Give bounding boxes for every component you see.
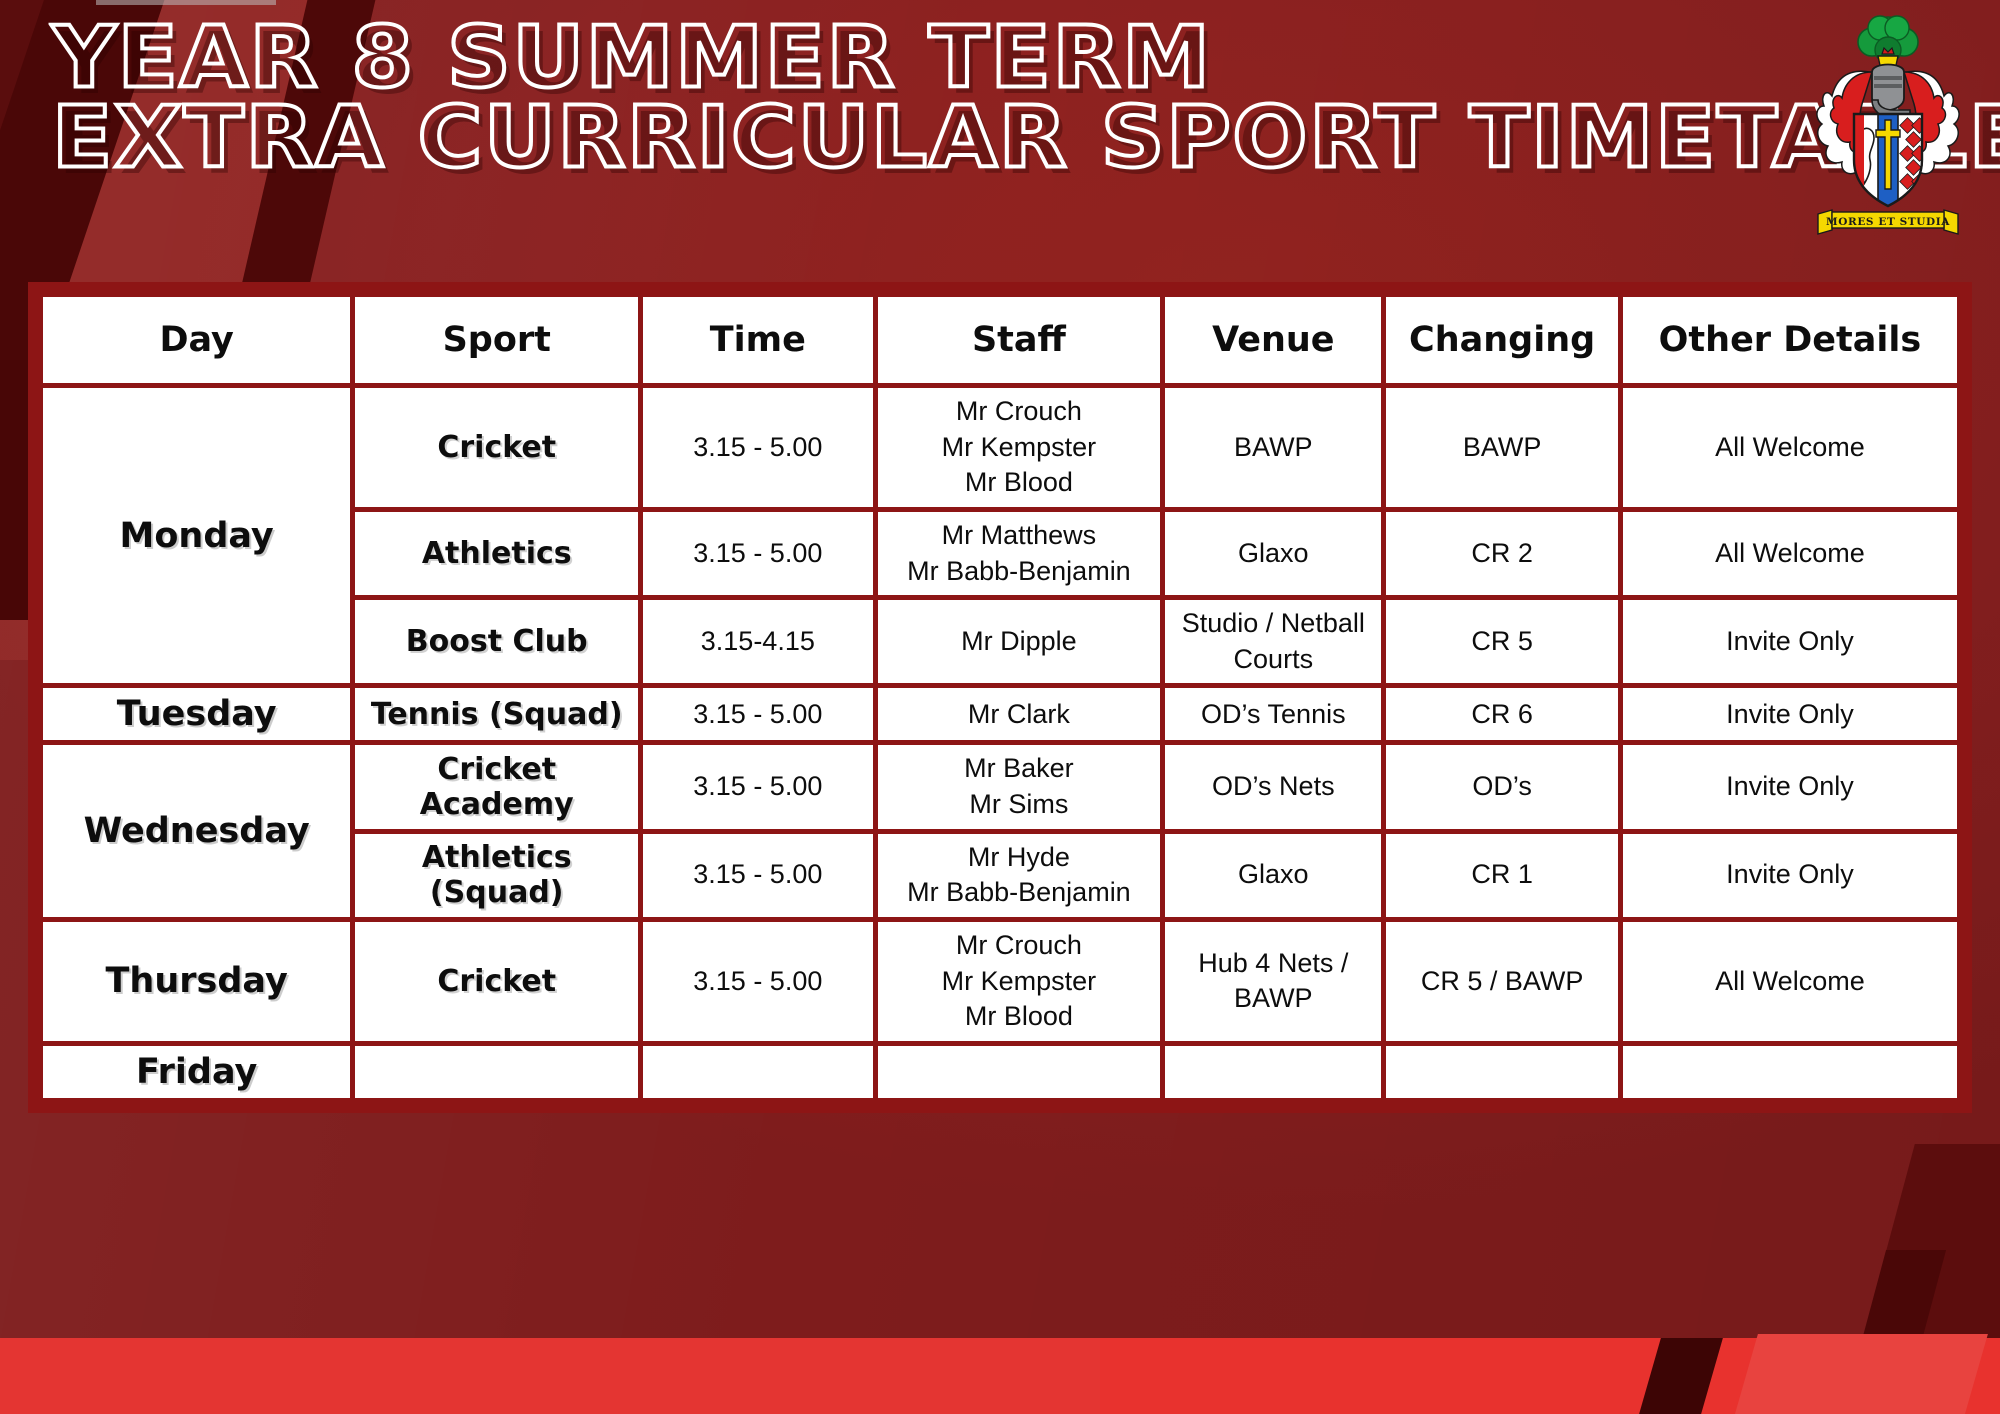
column-header-changing: Changing (1386, 297, 1618, 383)
cell-other: Invite Only (1623, 745, 1957, 828)
cell-staff: Mr Clark (878, 688, 1161, 740)
table-row: TuesdayTennis (Squad)3.15 - 5.00Mr Clark… (43, 688, 1957, 740)
crest-motto-ribbon: MORES ET STUDIA (1818, 210, 1958, 234)
cell-staff: Mr CrouchMr KempsterMr Blood (878, 388, 1161, 507)
cell-changing: CR 2 (1386, 512, 1618, 595)
cell-time (643, 1046, 872, 1098)
cell-other (1623, 1046, 1957, 1098)
column-header-day: Day (43, 297, 350, 383)
cell-day-thursday: Thursday (43, 922, 350, 1041)
cell-venue: Studio / Netball Courts (1165, 600, 1381, 683)
bottom-band-swoosh-2 (1732, 1334, 1988, 1414)
cell-staff: Mr Dipple (878, 600, 1161, 683)
cell-sport: Cricket Academy (355, 745, 638, 828)
cell-staff: Mr CrouchMr KempsterMr Blood (878, 922, 1161, 1041)
cell-staff: Mr MatthewsMr Babb-Benjamin (878, 512, 1161, 595)
cell-sport (355, 1046, 638, 1098)
timetable: Day Sport Time Staff Venue Changing Othe… (38, 292, 1962, 1103)
cell-time: 3.15 - 5.00 (643, 745, 872, 828)
cell-other: All Welcome (1623, 512, 1957, 595)
cell-sport: Athletics (Squad) (355, 834, 638, 917)
school-crest-icon: MORES ET STUDIA (1798, 14, 1978, 244)
cell-changing: CR 5 (1386, 600, 1618, 683)
cell-staff: Mr HydeMr Babb-Benjamin (878, 834, 1161, 917)
cell-day-friday: Friday (43, 1046, 350, 1098)
crest-motto-text: MORES ET STUDIA (1826, 216, 1950, 228)
cell-changing: BAWP (1386, 388, 1618, 507)
cell-time: 3.15 - 5.00 (643, 834, 872, 917)
cell-sport: Tennis (Squad) (355, 688, 638, 740)
cell-other: All Welcome (1623, 922, 1957, 1041)
timetable-container: Day Sport Time Staff Venue Changing Othe… (28, 282, 1972, 1113)
cell-other: All Welcome (1623, 388, 1957, 507)
timetable-body: MondayCricket3.15 - 5.00Mr CrouchMr Kemp… (43, 388, 1957, 1098)
cell-time: 3.15 - 5.00 (643, 922, 872, 1041)
cell-day-tuesday: Tuesday (43, 688, 350, 740)
cell-day-wednesday: Wednesday (43, 745, 350, 917)
title-line-2: EXTRA CURRICULAR SPORT TIMETABLE (52, 98, 2000, 176)
title-line-1: YEAR 8 SUMMER TERM (52, 18, 2000, 96)
cell-staff: Mr BakerMr Sims (878, 745, 1161, 828)
cell-time: 3.15 - 5.00 (643, 688, 872, 740)
cell-changing (1386, 1046, 1618, 1098)
cell-other: Invite Only (1623, 688, 1957, 740)
cell-day-monday: Monday (43, 388, 350, 683)
cell-venue: OD’s Tennis (1165, 688, 1381, 740)
cell-other: Invite Only (1623, 600, 1957, 683)
column-header-sport: Sport (355, 297, 638, 383)
cell-venue (1165, 1046, 1381, 1098)
cell-sport: Cricket (355, 388, 638, 507)
cell-sport: Cricket (355, 922, 638, 1041)
table-row: Friday (43, 1046, 1957, 1098)
table-header-row: Day Sport Time Staff Venue Changing Othe… (43, 297, 1957, 383)
poster-title: YEAR 8 SUMMER TERM EXTRA CURRICULAR SPOR… (52, 18, 1758, 168)
cell-sport: Boost Club (355, 600, 638, 683)
table-row: WednesdayCricket Academy3.15 - 5.00Mr Ba… (43, 745, 1957, 828)
cell-venue: Glaxo (1165, 834, 1381, 917)
cell-time: 3.15-4.15 (643, 600, 872, 683)
cell-time: 3.15 - 5.00 (643, 388, 872, 507)
table-row: ThursdayCricket3.15 - 5.00Mr CrouchMr Ke… (43, 922, 1957, 1041)
cell-venue: Glaxo (1165, 512, 1381, 595)
column-header-staff: Staff (878, 297, 1161, 383)
bottom-band-light (0, 1338, 1100, 1414)
column-header-time: Time (643, 297, 872, 383)
column-header-other: Other Details (1623, 297, 1957, 383)
poster-header: YEAR 8 SUMMER TERM EXTRA CURRICULAR SPOR… (0, 0, 2000, 268)
column-header-venue: Venue (1165, 297, 1381, 383)
cell-venue: BAWP (1165, 388, 1381, 507)
cell-changing: CR 1 (1386, 834, 1618, 917)
cell-staff (878, 1046, 1161, 1098)
cell-time: 3.15 - 5.00 (643, 512, 872, 595)
cell-other: Invite Only (1623, 834, 1957, 917)
poster-root: YEAR 8 SUMMER TERM EXTRA CURRICULAR SPOR… (0, 0, 2000, 1414)
cell-venue: Hub 4 Nets / BAWP (1165, 922, 1381, 1041)
cell-venue: OD’s Nets (1165, 745, 1381, 828)
cell-sport: Athletics (355, 512, 638, 595)
cell-changing: OD’s (1386, 745, 1618, 828)
cell-changing: CR 5 / BAWP (1386, 922, 1618, 1041)
cell-changing: CR 6 (1386, 688, 1618, 740)
table-row: MondayCricket3.15 - 5.00Mr CrouchMr Kemp… (43, 388, 1957, 507)
